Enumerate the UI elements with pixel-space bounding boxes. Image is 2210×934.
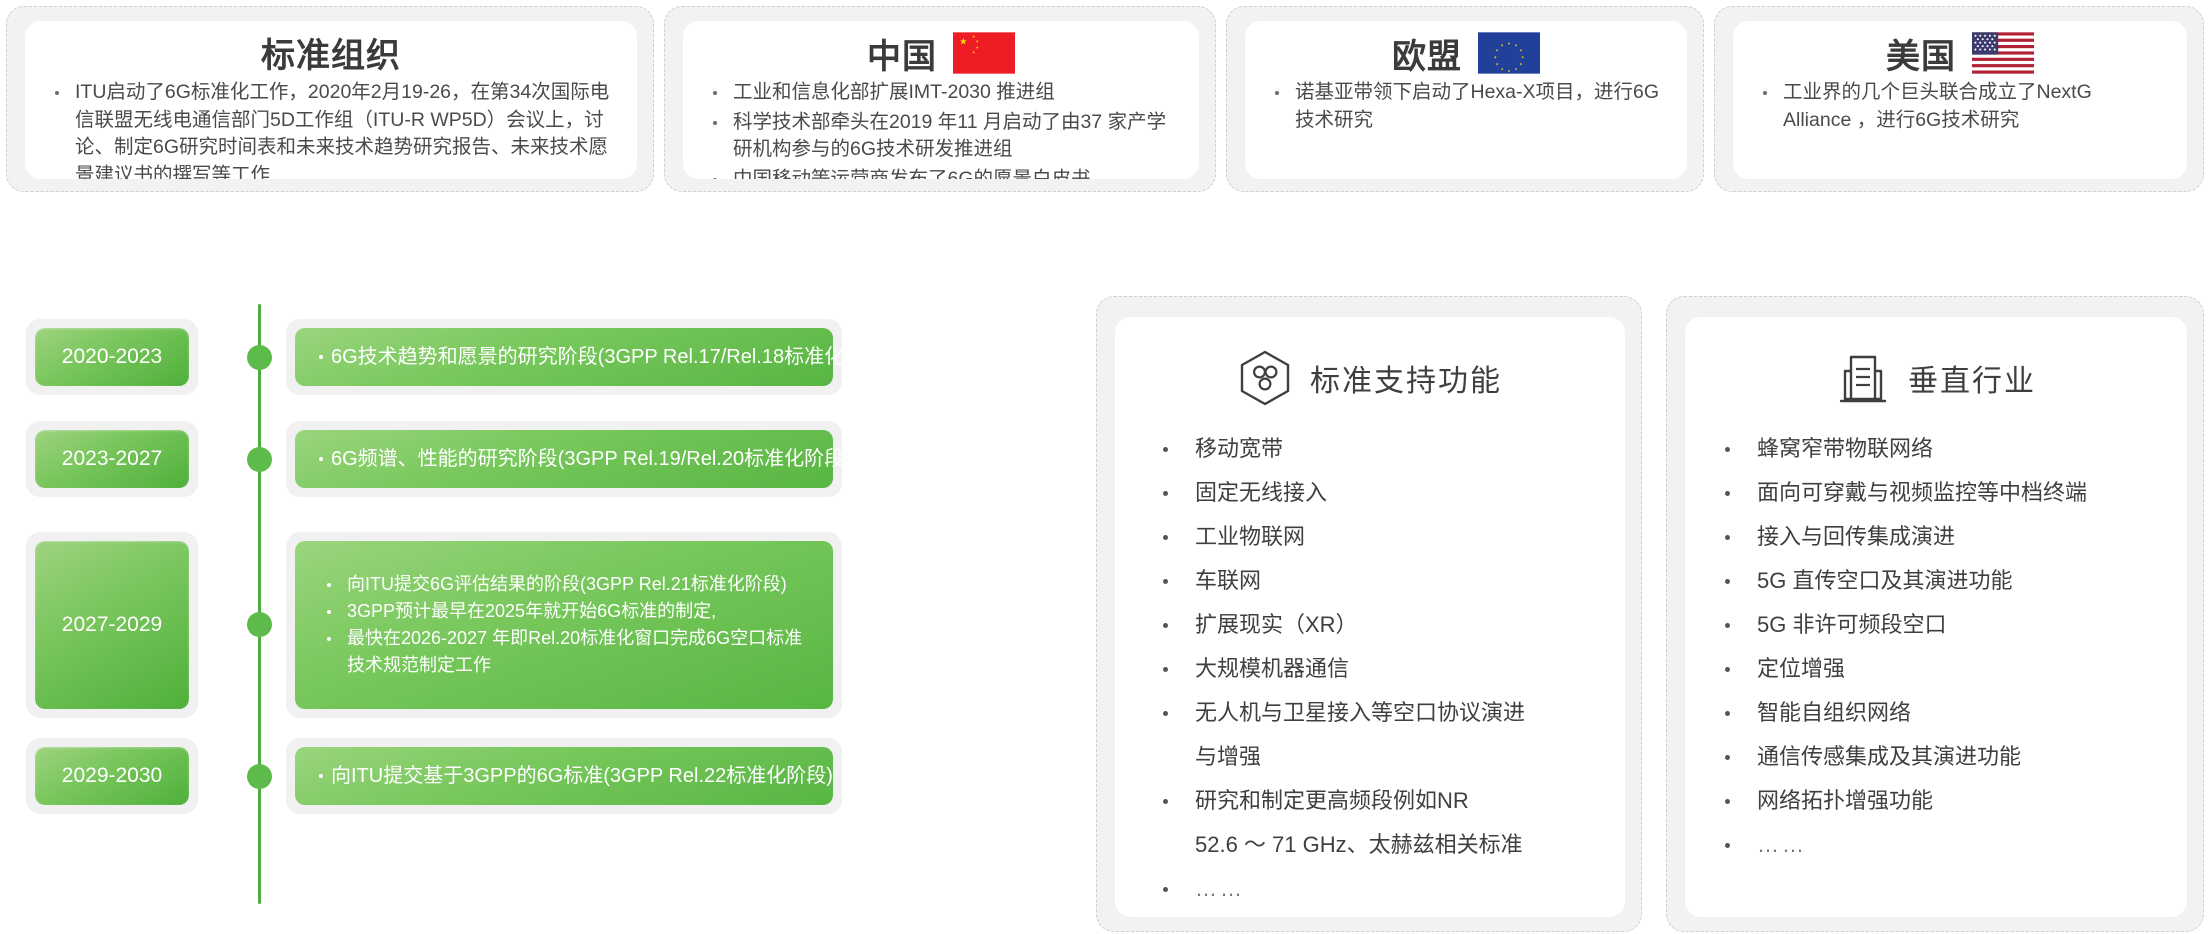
panel-body-standard-support: 移动宽带 固定无线接入 工业物联网 车联网 扩展现实（XR） 大规模机器通信 无…: [1115, 417, 1625, 911]
timeline-bar-list-3: 向ITU提交6G评估结果的阶段(3GPP Rel.21标准化阶段) 3GPP预计…: [319, 571, 811, 679]
list-item: 移动宽带: [1149, 427, 1595, 471]
list-item: 向ITU提交6G评估结果的阶段(3GPP Rel.21标准化阶段): [319, 571, 811, 598]
timeline-year-3: 2027-2029: [35, 541, 189, 709]
timeline-bar-4: 向ITU提交基于3GPP的6G标准(3GPP Rel.22标准化阶段): [295, 747, 833, 805]
timeline-year-4: 2029-2030: [35, 747, 189, 805]
panel-list-standard-support: 移动宽带 固定无线接入 工业物联网 车联网 扩展现实（XR） 大规模机器通信 无…: [1149, 427, 1595, 911]
card-title-row-usa: 美国: [1733, 27, 2187, 79]
china-flag-icon: [953, 32, 1015, 74]
timeline-bar-shell-4: 向ITU提交基于3GPP的6G标准(3GPP Rel.22标准化阶段): [286, 738, 842, 814]
list-item: 车联网: [1149, 559, 1595, 603]
infographic-root: 标准组织 ITU启动了6G标准化工作，2020年2月19-26，在第34次国际电…: [0, 0, 2210, 934]
list-item: 蜂窝窄带物联网络: [1711, 427, 2157, 471]
timeline-dot-3: [247, 612, 272, 637]
timeline-bar-list-1: 6G技术趋势和愿景的研究阶段(3GPP Rel.17/Rel.18标准化阶段): [317, 344, 811, 370]
list-item: 科学技术部牵头在2019 年11 月启动了由37 家产学研机构参与的6G技术研发…: [703, 109, 1175, 164]
timeline-year-1: 2020-2023: [35, 328, 189, 386]
timeline-year-shell-1: 2020-2023: [26, 319, 198, 395]
card-eu: 欧盟: [1245, 21, 1687, 179]
list-item: 大规模机器通信: [1149, 647, 1595, 691]
list-item: 扩展现实（XR）: [1149, 603, 1595, 647]
list-item-ellipsis: ……: [1711, 823, 2157, 867]
timeline-year-shell-4: 2029-2030: [26, 738, 198, 814]
list-item: 诺基亚带领下启动了Hexa-X项目，进行6G技术研究: [1265, 79, 1663, 134]
panel-list-vertical-industry: 蜂窝窄带物联网络 面向可穿戴与视频监控等中档终端 接入与回传集成演进 5G 直传…: [1711, 427, 2157, 867]
list-item: 智能自组织网络: [1711, 691, 2157, 735]
list-item-line2: 52.6 ～ 71 GHz、太赫兹相关标准: [1195, 823, 1595, 867]
bullet-list-usa: 工业界的几个巨头联合成立了NextG Alliance ，进行6G技术研究: [1753, 79, 2163, 134]
list-item-line1: 无人机与卫星接入等空口协议演进: [1195, 700, 1525, 725]
card-title-usa: 美国: [1886, 29, 1956, 78]
list-item: ITU启动了6G标准化工作，2020年2月19-26，在第34次国际电信联盟无线…: [45, 79, 613, 179]
card-title-eu: 欧盟: [1392, 29, 1462, 78]
list-item: 面向可穿戴与视频监控等中档终端: [1711, 471, 2157, 515]
card-body-china: 工业和信息化部扩展IMT-2030 推进组 科学技术部牵头在2019 年11 月…: [683, 79, 1199, 179]
bullet-list-eu: 诺基亚带领下启动了Hexa-X项目，进行6G技术研究: [1265, 79, 1663, 134]
card-usa: 美国: [1733, 21, 2187, 179]
list-item-line2: 与增强: [1195, 735, 1595, 779]
timeline-bar-list-4: 向ITU提交基于3GPP的6G标准(3GPP Rel.22标准化阶段): [317, 763, 811, 789]
card-shell-china: 中国 工业和信息化部扩展IMT-2030 推进组 科学技术部牵头在2019 年1…: [664, 6, 1216, 192]
list-item: 接入与回传集成演进: [1711, 515, 2157, 559]
timeline-year-shell-3: 2027-2029: [26, 532, 198, 718]
list-item: 5G 非许可频段空口: [1711, 603, 2157, 647]
card-title-china: 中国: [867, 29, 937, 78]
card-title-standards-org: 标准组织: [261, 28, 401, 77]
timeline-bar-shell-3: 向ITU提交6G评估结果的阶段(3GPP Rel.21标准化阶段) 3GPP预计…: [286, 532, 842, 718]
timeline-dot-1: [247, 345, 272, 370]
bullet-list-standards-org: ITU启动了6G标准化工作，2020年2月19-26，在第34次国际电信联盟无线…: [45, 79, 613, 179]
bullet-list-china: 工业和信息化部扩展IMT-2030 推进组 科学技术部牵头在2019 年11 月…: [703, 79, 1175, 179]
list-item: 定位增强: [1711, 647, 2157, 691]
timeline-bar-2: 6G频谱、性能的研究阶段(3GPP Rel.19/Rel.20标准化阶段): [295, 430, 833, 488]
list-item: 网络拓扑增强功能: [1711, 779, 2157, 823]
usa-flag-icon: [1972, 32, 2034, 74]
card-title-row-china: 中国: [683, 27, 1199, 79]
card-china: 中国 工业和信息化部扩展IMT-2030 推进组 科学技术部牵头在2019 年1…: [683, 21, 1199, 179]
list-item: 固定无线接入: [1149, 471, 1595, 515]
timeline-dot-4: [247, 764, 272, 789]
list-item: 工业界的几个巨头联合成立了NextG Alliance ，进行6G技术研究: [1753, 79, 2163, 134]
hexagon-molecule-icon: [1238, 349, 1292, 407]
list-item: 5G 直传空口及其演进功能: [1711, 559, 2157, 603]
panel-title-standard-support: 标准支持功能: [1310, 356, 1502, 400]
list-item-line1: 研究和制定更高频段例如NR: [1195, 788, 1469, 813]
list-item: 最快在2026-2027 年即Rel.20标准化窗口完成6G空口标准: [319, 625, 811, 652]
card-body-eu: 诺基亚带领下启动了Hexa-X项目，进行6G技术研究: [1245, 79, 1687, 146]
list-item: 6G技术趋势和愿景的研究阶段(3GPP Rel.17/Rel.18标准化阶段): [317, 344, 811, 370]
list-item: 中国移动等运营商发布了6G的愿景白皮书: [703, 166, 1175, 179]
panel-body-vertical-industry: 蜂窝窄带物联网络 面向可穿戴与视频监控等中档终端 接入与回传集成演进 5G 直传…: [1685, 417, 2187, 867]
timeline: 2020-2023 6G技术趋势和愿景的研究阶段(3GPP Rel.17/Rel…: [26, 304, 1046, 924]
card-shell-eu: 欧盟: [1226, 6, 1704, 192]
timeline-year-2: 2023-2027: [35, 430, 189, 488]
list-item: 通信传感集成及其演进功能: [1711, 735, 2157, 779]
card-title-row-standards-org: 标准组织: [25, 27, 637, 77]
timeline-bar-shell-2: 6G频谱、性能的研究阶段(3GPP Rel.19/Rel.20标准化阶段): [286, 421, 842, 497]
card-body-standards-org: ITU启动了6G标准化工作，2020年2月19-26，在第34次国际电信联盟无线…: [25, 77, 637, 179]
card-shell-usa: 美国: [1714, 6, 2204, 192]
list-item-continuation: 技术规范制定工作: [319, 652, 811, 679]
timeline-bar-3: 向ITU提交6G评估结果的阶段(3GPP Rel.21标准化阶段) 3GPP预计…: [295, 541, 833, 709]
card-body-usa: 工业界的几个巨头联合成立了NextG Alliance ，进行6G技术研究: [1733, 79, 2187, 146]
list-item: 工业和信息化部扩展IMT-2030 推进组: [703, 79, 1175, 107]
panel-standard-support: 标准支持功能 移动宽带 固定无线接入 工业物联网 车联网 扩展现实（XR） 大规…: [1115, 317, 1625, 917]
building-document-icon: [1836, 349, 1890, 407]
timeline-bar-list-2: 6G频谱、性能的研究阶段(3GPP Rel.19/Rel.20标准化阶段): [317, 446, 811, 472]
list-item: 6G频谱、性能的研究阶段(3GPP Rel.19/Rel.20标准化阶段): [317, 446, 811, 472]
timeline-axis-line: [258, 304, 261, 904]
list-item: 向ITU提交基于3GPP的6G标准(3GPP Rel.22标准化阶段): [317, 763, 811, 789]
list-item: 无人机与卫星接入等空口协议演进 与增强: [1149, 691, 1595, 779]
timeline-bar-shell-1: 6G技术趋势和愿景的研究阶段(3GPP Rel.17/Rel.18标准化阶段): [286, 319, 842, 395]
list-item: 工业物联网: [1149, 515, 1595, 559]
panel-shell-standard-support: 标准支持功能 移动宽带 固定无线接入 工业物联网 车联网 扩展现实（XR） 大规…: [1096, 296, 1642, 932]
timeline-bar-1: 6G技术趋势和愿景的研究阶段(3GPP Rel.17/Rel.18标准化阶段): [295, 328, 833, 386]
timeline-year-shell-2: 2023-2027: [26, 421, 198, 497]
list-item-ellipsis: ……: [1149, 867, 1595, 911]
timeline-dot-2: [247, 447, 272, 472]
list-item: 3GPP预计最早在2025年就开始6G标准的制定,: [319, 598, 811, 625]
list-item: 研究和制定更高频段例如NR 52.6 ～ 71 GHz、太赫兹相关标准: [1149, 779, 1595, 867]
card-shell-standards-org: 标准组织 ITU启动了6G标准化工作，2020年2月19-26，在第34次国际电…: [6, 6, 654, 192]
panel-header-vertical-industry: 垂直行业: [1685, 339, 2187, 417]
panel-title-vertical-industry: 垂直行业: [1908, 356, 2036, 400]
panel-vertical-industry: 垂直行业 蜂窝窄带物联网络 面向可穿戴与视频监控等中档终端 接入与回传集成演进 …: [1685, 317, 2187, 917]
eu-flag-icon: [1478, 32, 1540, 74]
card-standards-org: 标准组织 ITU启动了6G标准化工作，2020年2月19-26，在第34次国际电…: [25, 21, 637, 179]
card-title-row-eu: 欧盟: [1245, 27, 1687, 79]
panel-shell-vertical-industry: 垂直行业 蜂窝窄带物联网络 面向可穿戴与视频监控等中档终端 接入与回传集成演进 …: [1666, 296, 2204, 932]
panel-header-standard-support: 标准支持功能: [1115, 339, 1625, 417]
